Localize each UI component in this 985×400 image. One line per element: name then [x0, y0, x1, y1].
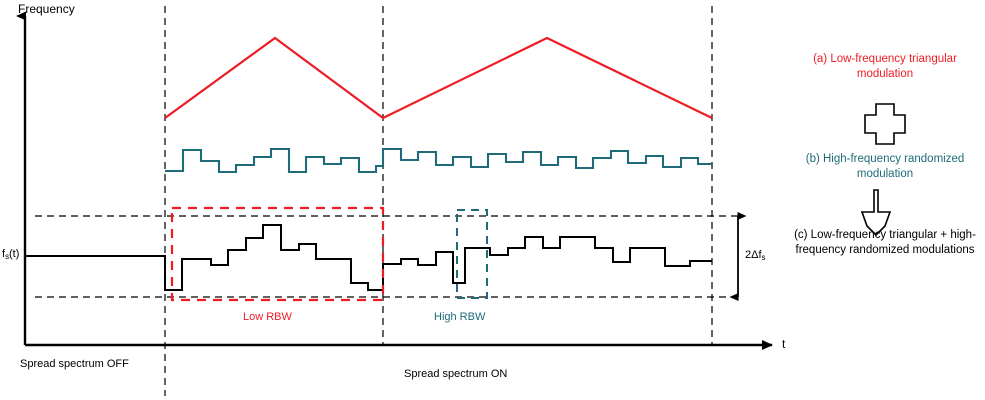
- legend-item-a: (a) Low-frequency triangular modulation: [800, 52, 970, 82]
- trace-combined-modulation: [25, 225, 712, 290]
- spread-spectrum-on-label: Spread spectrum ON: [404, 368, 507, 380]
- spread-spectrum-off-label: Spread spectrum OFF: [20, 358, 129, 370]
- low-rbw-box: [172, 208, 383, 300]
- plus-sign-icon: [865, 104, 905, 144]
- y-axis-label: Frequency: [18, 2, 75, 16]
- baseline-frequency-label: fs(t): [2, 248, 19, 261]
- delta-label-prefix: 2Δf: [745, 249, 762, 261]
- trace-randomized-modulation: [165, 149, 712, 172]
- region-dividers: [165, 6, 712, 396]
- delta-frequency-label: 2Δfs: [745, 249, 765, 262]
- x-axis-label: t: [782, 337, 785, 351]
- low-rbw-label: Low RBW: [243, 311, 292, 323]
- legend-item-c: (c) Low-frequency triangular + high-freq…: [786, 228, 984, 258]
- high-rbw-box: [457, 210, 487, 298]
- axis-group: [25, 16, 772, 345]
- baseline-label-suffix: (t): [9, 248, 19, 260]
- legend-item-b: (b) High-frequency randomized modulation: [800, 152, 970, 182]
- high-rbw-label: High RBW: [434, 311, 485, 323]
- diagram-root: Frequency t fs(t) 2Δfs Low RBW High RBW …: [0, 0, 985, 400]
- delta-label-subscript: s: [762, 253, 766, 262]
- trace-triangular-modulation: [165, 38, 712, 118]
